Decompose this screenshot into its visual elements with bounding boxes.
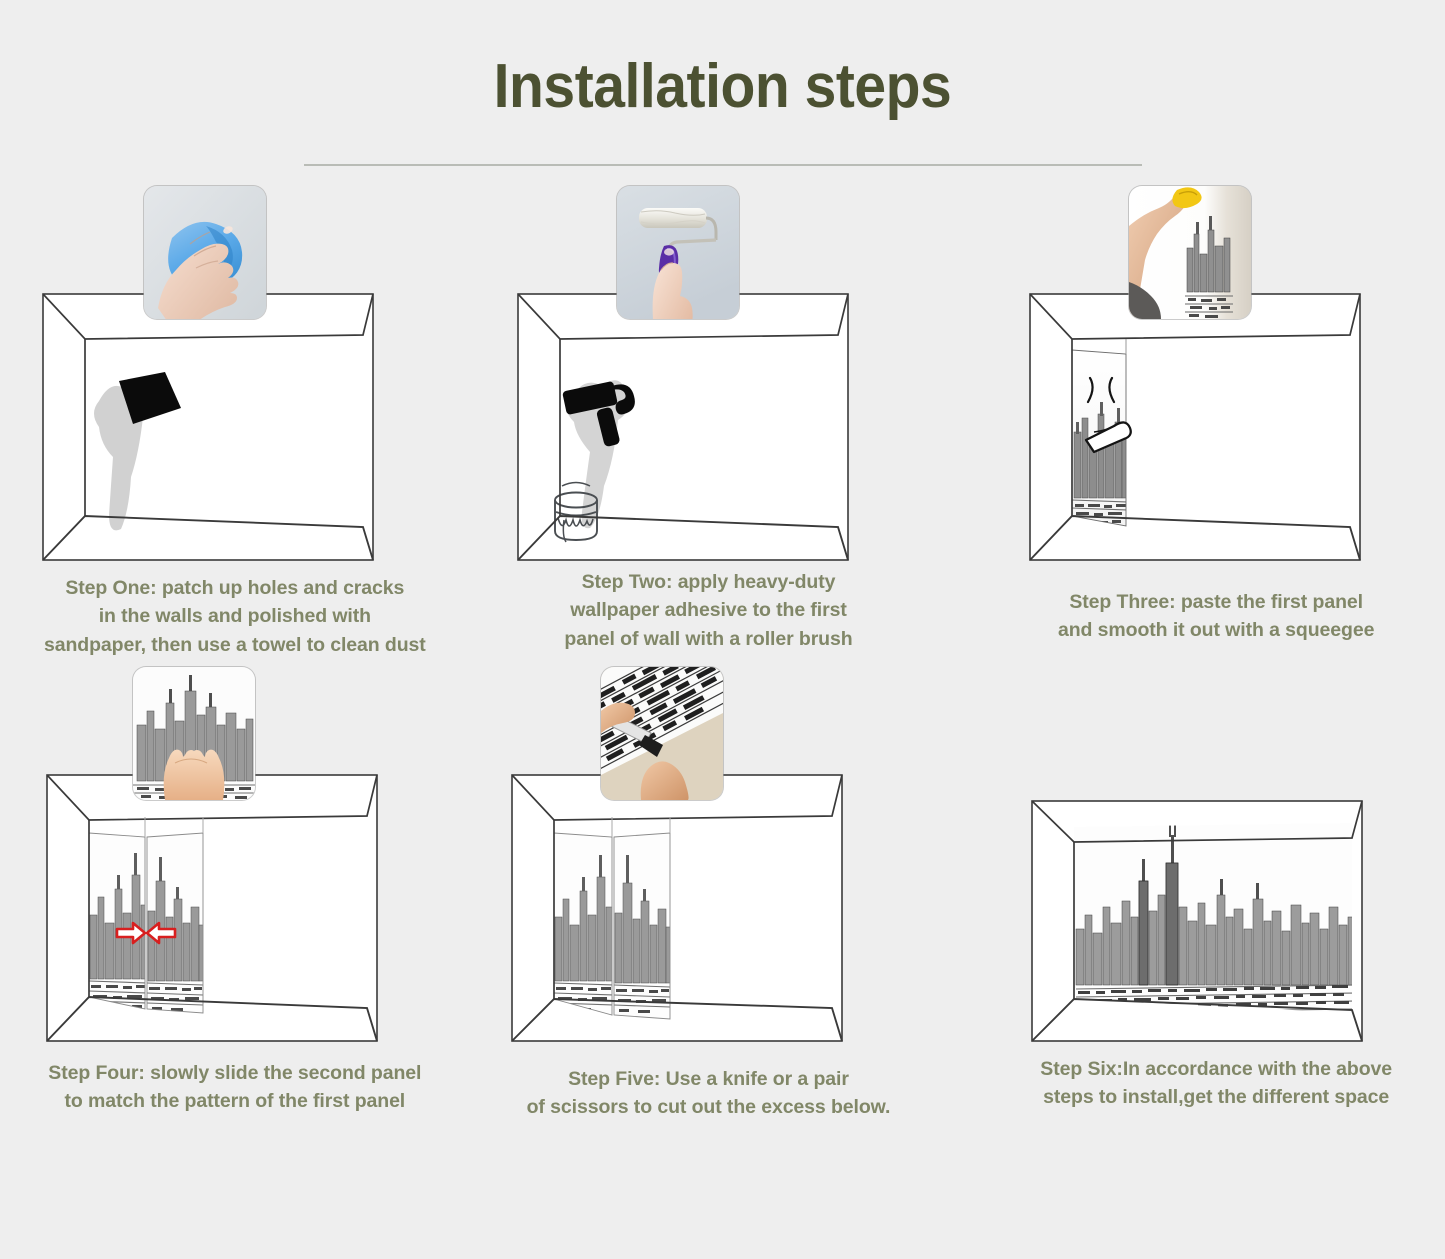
step-one-caption: Step One: patch up holes and cracks in t…: [20, 574, 450, 659]
step-two-caption: Step Two: apply heavy-duty wallpaper adh…: [493, 568, 923, 653]
steps-grid: Step One: patch up holes and cracks in t…: [0, 166, 1445, 1107]
thumbnail-paint-roller[interactable]: [617, 186, 739, 319]
thumbnail-hands-sliding-panel[interactable]: [133, 667, 255, 800]
skyline-panel-first: [554, 827, 614, 1021]
step-card-six: Step Six:In accordance with the above st…: [963, 667, 1445, 1108]
room-line-drawing-six: [1018, 667, 1418, 1047]
step-card-three: Step Three: paste the first panel and sm…: [963, 186, 1445, 657]
step-six-diagram: [1018, 667, 1418, 1047]
skyline-panel-second: [612, 827, 672, 1021]
step-card-five: Step Five: Use a knife or a pair of scis…: [482, 667, 964, 1108]
thumbnail-squeegee-smoothing[interactable]: [1129, 186, 1251, 319]
step-three-caption: Step Three: paste the first panel and sm…: [1001, 588, 1431, 645]
step-three-diagram: [1016, 186, 1416, 566]
skyline-panel-second: [145, 827, 205, 1017]
step-five-caption: Step Five: Use a knife or a pair of scis…: [493, 1065, 923, 1122]
step-six-caption: Step Six:In accordance with the above st…: [1001, 1055, 1431, 1112]
skyline-mural-full: [1074, 817, 1354, 1017]
step-five-diagram: [508, 667, 908, 1047]
skyline-panel-first: [89, 827, 147, 1015]
step-four-diagram: [33, 667, 433, 1047]
step-card-four: Step Four: slowly slide the second panel…: [0, 667, 482, 1108]
step-card-one: Step One: patch up holes and cracks in t…: [0, 186, 482, 657]
thumbnail-cutting-with-knife[interactable]: [601, 667, 723, 800]
thumbnail-hand-wiping-wall[interactable]: [144, 186, 266, 319]
step-one-diagram: [29, 186, 429, 566]
step-four-caption: Step Four: slowly slide the second panel…: [20, 1059, 450, 1116]
page-title: Installation steps: [58, 42, 1387, 123]
step-two-diagram: [504, 186, 904, 566]
installation-guide-page: Installation steps: [0, 42, 1445, 1108]
step-card-two: Step Two: apply heavy-duty wallpaper adh…: [482, 186, 964, 657]
